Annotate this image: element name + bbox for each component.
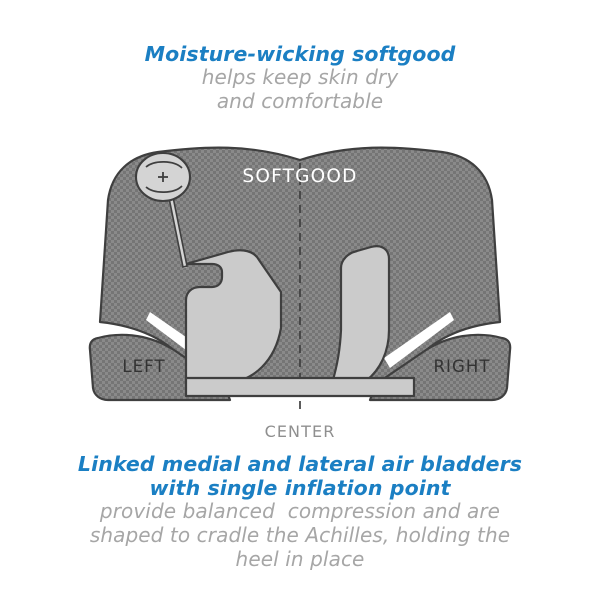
caption-bottom-accent-line-1: Linked medial and lateral air bladders <box>0 452 600 476</box>
label-center: CENTER <box>265 422 336 441</box>
label-softgood: SOFTGOOD <box>242 166 357 187</box>
caption-bottom-accent-line-2: with single inflation point <box>0 476 600 500</box>
label-left: LEFT <box>122 357 165 376</box>
label-right: RIGHT <box>433 357 490 376</box>
caption-bottom-muted-line-1: provide balanced compression and are <box>0 500 600 524</box>
diagram-page: Moisture-wicking softgood helps keep ski… <box>0 0 600 600</box>
bladder-link-bar <box>186 378 414 396</box>
caption-bottom-muted-line-2: shaped to cradle the Achilles, holding t… <box>0 524 600 548</box>
caption-bottom-muted-line-3: heel in place <box>0 548 600 572</box>
caption-bottom: Linked medial and lateral air bladders w… <box>0 452 600 571</box>
